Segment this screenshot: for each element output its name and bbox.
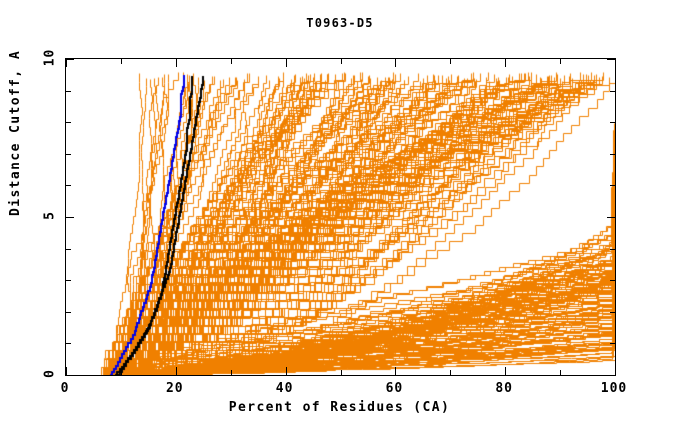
axis-tick bbox=[231, 370, 232, 375]
axis-tick bbox=[610, 312, 615, 313]
y-tick-label: 5 bbox=[43, 205, 58, 227]
x-tick-label: 20 bbox=[166, 381, 184, 396]
axis-tick bbox=[121, 59, 122, 64]
axis-tick bbox=[610, 154, 615, 155]
axis-tick bbox=[610, 185, 615, 186]
axis-tick bbox=[66, 154, 71, 155]
plot-area bbox=[65, 58, 616, 376]
axis-tick bbox=[66, 185, 71, 186]
axis-tick bbox=[615, 59, 616, 67]
axis-tick bbox=[176, 59, 177, 67]
chart-figure: T0963-D5 020406080100 0510 Percent of Re… bbox=[0, 0, 680, 440]
axis-tick bbox=[610, 122, 615, 123]
axis-tick bbox=[66, 249, 71, 250]
axis-tick bbox=[341, 370, 342, 375]
axis-tick bbox=[66, 91, 71, 92]
axis-tick bbox=[610, 91, 615, 92]
axis-tick bbox=[395, 59, 396, 67]
y-tick-label: 0 bbox=[43, 363, 58, 385]
x-axis-title: Percent of Residues (CA) bbox=[65, 400, 614, 415]
axis-tick bbox=[610, 280, 615, 281]
axis-tick bbox=[560, 59, 561, 64]
axis-tick bbox=[341, 59, 342, 64]
axis-tick bbox=[610, 249, 615, 250]
axis-tick bbox=[66, 280, 71, 281]
axis-tick bbox=[66, 312, 71, 313]
axis-tick bbox=[615, 367, 616, 375]
axis-tick bbox=[66, 343, 71, 344]
axis-tick bbox=[66, 59, 67, 67]
x-tick-label: 100 bbox=[601, 381, 627, 396]
axis-tick bbox=[286, 367, 287, 375]
axis-tick bbox=[450, 59, 451, 64]
axis-tick bbox=[66, 122, 71, 123]
axis-tick bbox=[505, 367, 506, 375]
axis-tick bbox=[176, 367, 177, 375]
axis-tick bbox=[395, 367, 396, 375]
axis-tick bbox=[607, 217, 615, 218]
x-tick-label: 40 bbox=[276, 381, 294, 396]
axis-tick bbox=[450, 370, 451, 375]
y-axis-title: Distance Cutoff, A bbox=[8, 50, 23, 216]
axis-tick bbox=[607, 59, 615, 60]
axis-tick bbox=[121, 370, 122, 375]
axis-tick bbox=[66, 375, 74, 376]
x-tick-label: 60 bbox=[386, 381, 404, 396]
axis-tick bbox=[231, 59, 232, 64]
x-tick-label: 80 bbox=[495, 381, 513, 396]
axis-tick bbox=[610, 343, 615, 344]
y-tick-label: 10 bbox=[43, 47, 58, 69]
axis-tick bbox=[560, 370, 561, 375]
plot-curves-canvas bbox=[66, 59, 615, 375]
page-title: T0963-D5 bbox=[0, 16, 680, 30]
axis-tick bbox=[286, 59, 287, 67]
x-tick-label: 0 bbox=[61, 381, 70, 396]
axis-tick bbox=[66, 367, 67, 375]
axis-tick bbox=[607, 375, 615, 376]
axis-tick bbox=[66, 59, 74, 60]
axis-tick bbox=[505, 59, 506, 67]
axis-tick bbox=[66, 217, 74, 218]
